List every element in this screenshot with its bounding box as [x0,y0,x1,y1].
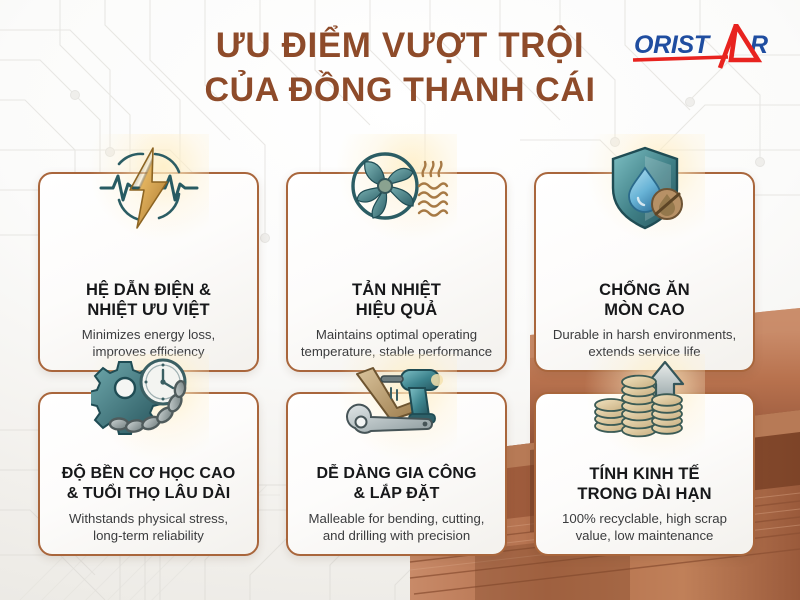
icon-glow [89,134,209,244]
card-title: ĐỘ BỀN CƠ HỌC CAO & TUỔI THỌ LÂU DÀI [62,464,236,504]
svg-text:ORIST: ORIST [634,31,712,59]
card-description: 100% recyclable, high scrap value, low m… [562,511,727,544]
lightning-ecg-icon [97,142,201,234]
card-description: Withstands physical stress, long-term re… [69,511,228,544]
title-line-2: CỦA ĐỒNG THANH CÁI [0,68,800,112]
card-corrosion-resistance[interactable]: CHỐNG ĂN MÒN CAO Durable in harsh enviro… [534,172,755,372]
oristar-logo[interactable]: ORIST R [632,24,778,72]
card-description: Maintains optimal operating temperature,… [301,327,492,360]
fan-heatwave-icon [345,142,449,234]
card-title: CHỐNG ĂN MÒN CAO [599,280,690,320]
icon-glow [585,134,705,244]
icon-glow [337,134,457,244]
card-conductivity[interactable]: HỆ DẪN ĐIỆN & NHIỆT ƯU VIỆT Minimizes en… [38,172,259,372]
card-description: Durable in harsh environments, extends s… [553,327,736,360]
card-title: DỄ DÀNG GIA CÔNG & LẮP ĐẶT [316,464,476,504]
card-heat-dissipation[interactable]: TẢN NHIỆT HIỆU QUẢ Maintains optimal ope… [286,172,507,372]
card-easy-fabrication[interactable]: DỄ DÀNG GIA CÔNG & LẮP ĐẶT Malleable for… [286,392,507,556]
card-description: Minimizes energy loss, improves efficien… [82,327,215,360]
card-title: TÍNH KINH TẾ TRONG DÀI HẠN [577,464,711,504]
benefits-grid: HỆ DẪN ĐIỆN & NHIỆT ƯU VIỆT Minimizes en… [38,172,760,556]
card-title: HỆ DẪN ĐIỆN & NHIỆT ƯU VIỆT [86,280,211,320]
card-title: TẢN NHIỆT HIỆU QUẢ [352,280,441,320]
card-economy[interactable]: TÍNH KINH TẾ TRONG DÀI HẠN 100% recyclab… [534,392,755,556]
infographic-poster: ƯU ĐIỂM VƯỢT TRỘI CỦA ĐỒNG THANH CÁI ORI… [0,0,800,600]
card-description: Malleable for bending, cutting, and dril… [309,511,485,544]
card-mechanical-strength[interactable]: ĐỘ BỀN CƠ HỌC CAO & TUỔI THỌ LÂU DÀI Wit… [38,392,259,556]
shield-waterdrop-icon [593,142,697,234]
